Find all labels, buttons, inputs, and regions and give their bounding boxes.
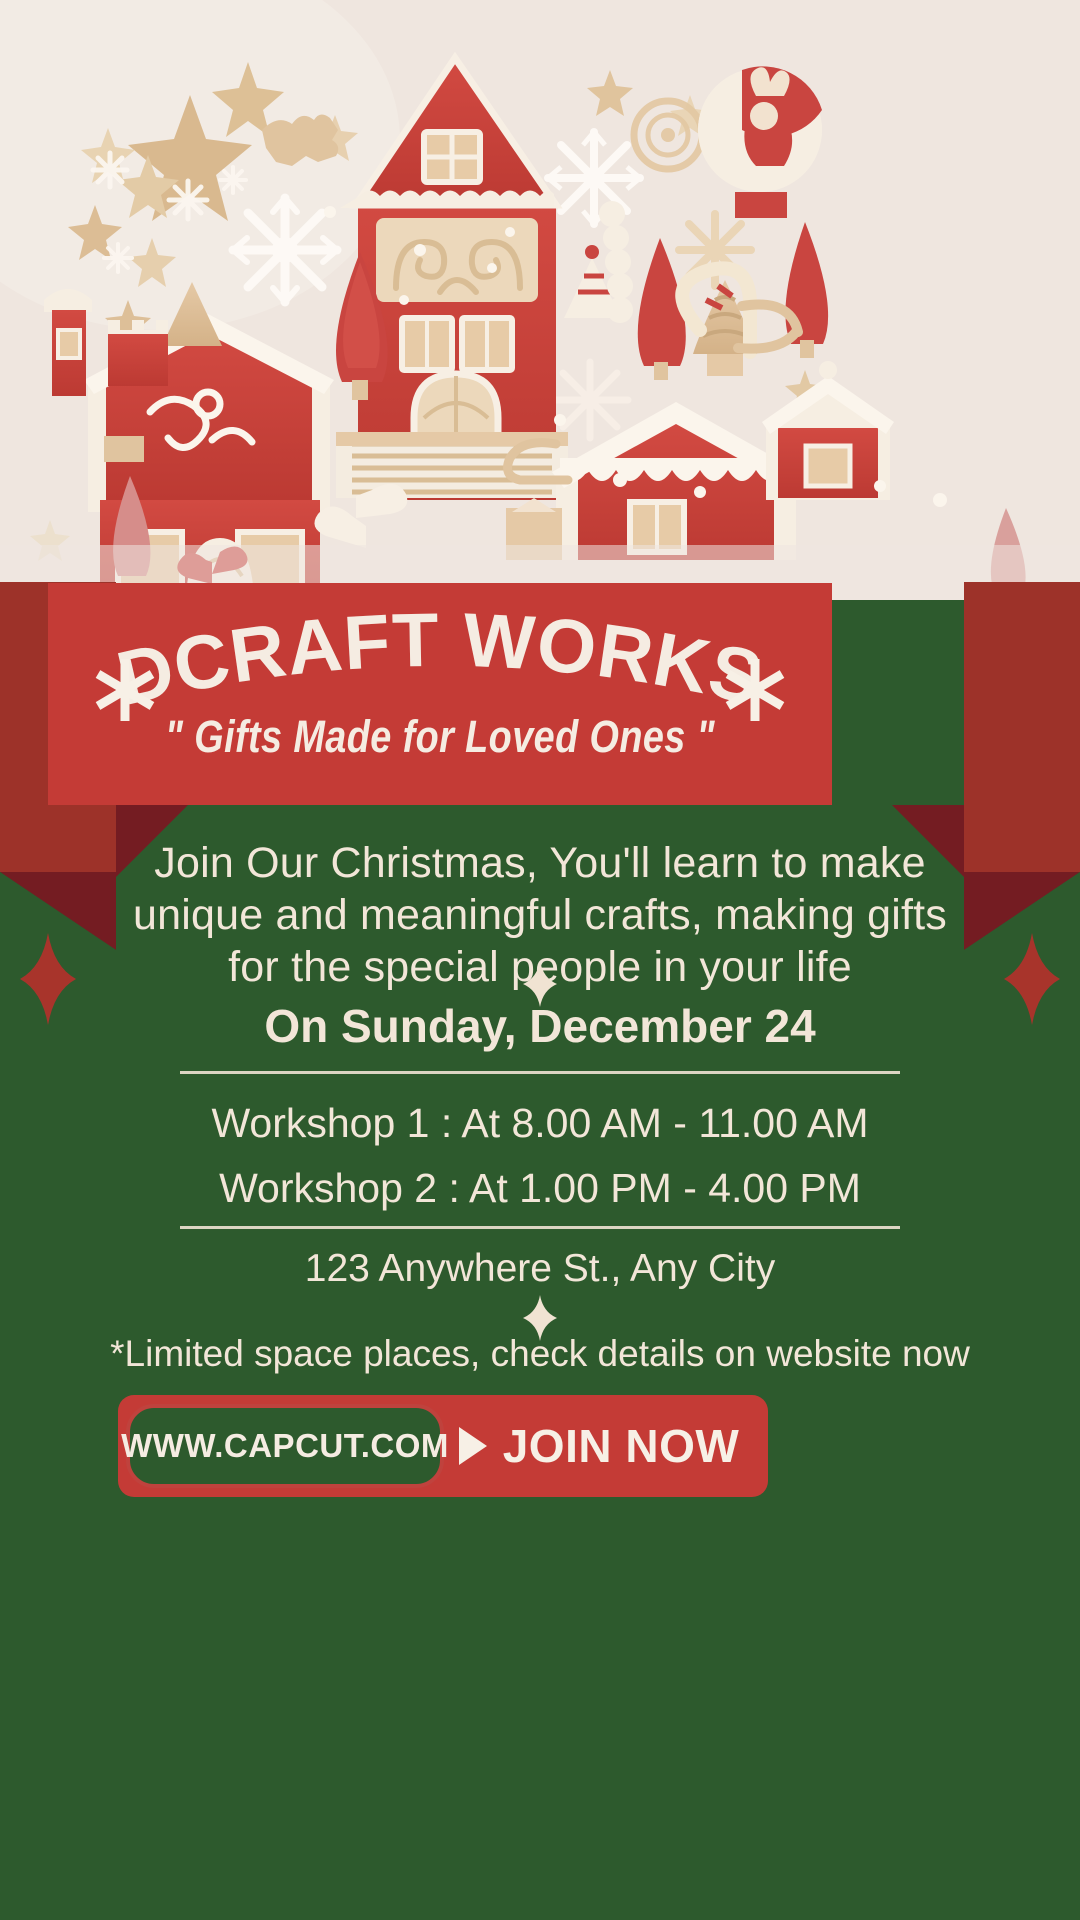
- banner-title-arched: HANDCRAFT WORKSHOP: [48, 597, 832, 717]
- event-address: 123 Anywhere St., Any City: [0, 1247, 1080, 1291]
- hero-illustration: [0, 0, 1080, 600]
- event-date: On Sunday, December 24: [0, 999, 1080, 1053]
- play-triangle-icon: [459, 1427, 487, 1465]
- intro-line-1: Join Our Christmas, You'll learn to make: [0, 837, 1080, 889]
- join-now-group[interactable]: JOIN NOW: [444, 1419, 768, 1473]
- website-url-button[interactable]: WWW.CAPCUT.COM: [126, 1404, 444, 1488]
- snowflake-asterisk-icon: [90, 655, 160, 725]
- divider-bottom: [180, 1226, 900, 1229]
- intro-line-2: unique and meaningful crafts, making gif…: [0, 889, 1080, 941]
- divider-top: [180, 1071, 900, 1074]
- ribbon-band: HANDCRAFT WORKSHOP " Gifts Made for Love…: [48, 583, 832, 805]
- workshop-row-2: Workshop 2 : At 1.00 PM - 4.00 PM: [0, 1165, 1080, 1212]
- snowflake-asterisk-icon: [720, 655, 790, 725]
- join-now-label: JOIN NOW: [503, 1419, 740, 1473]
- cta-bar[interactable]: WWW.CAPCUT.COM JOIN NOW: [118, 1395, 768, 1497]
- hero-photo: [0, 0, 1080, 600]
- limited-space-note: *Limited space places, check details on …: [0, 1333, 1080, 1375]
- details-section: Join Our Christmas, You'll learn to make…: [0, 805, 1080, 1920]
- banner-subtitle: " Gifts Made for Loved Ones ": [111, 711, 770, 763]
- workshop-row-1: Workshop 1 : At 8.00 AM - 11.00 AM: [0, 1100, 1080, 1147]
